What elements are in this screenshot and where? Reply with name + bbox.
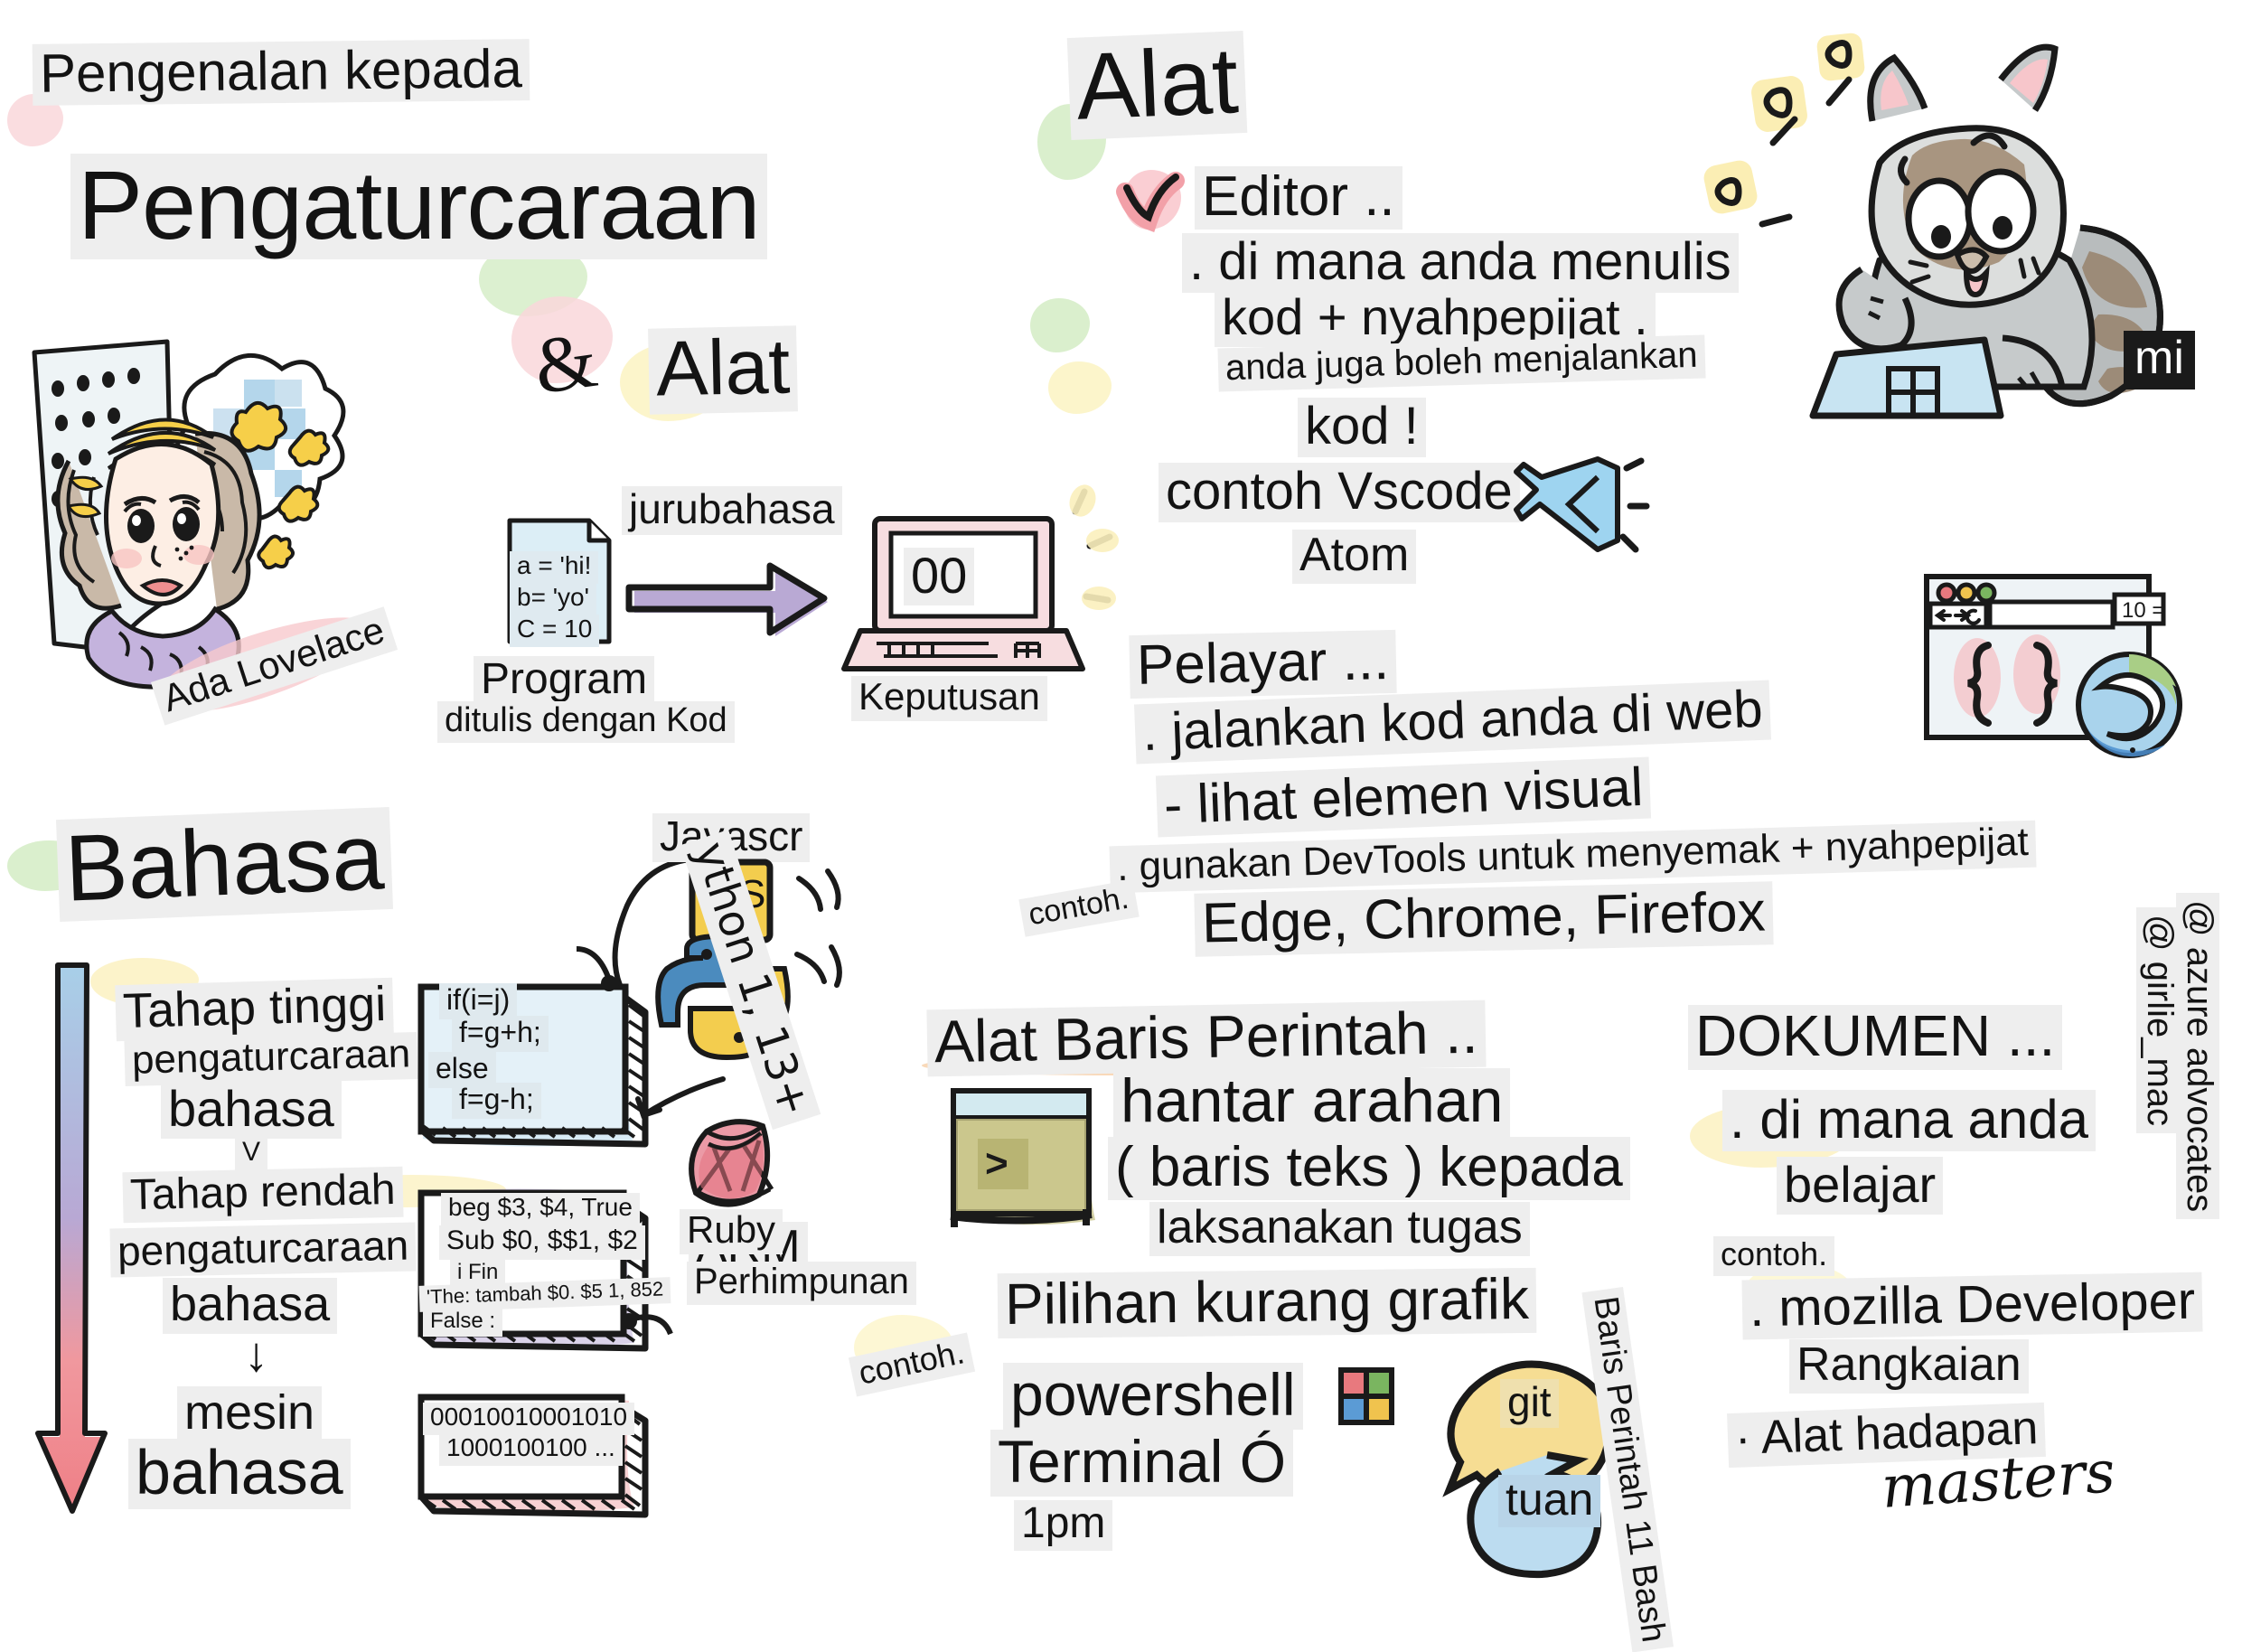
high-level-code-line-0: if(i=j)	[439, 983, 517, 1019]
laptop-screen-text: 00	[904, 548, 974, 605]
ladder-item-3: V	[235, 1137, 267, 1171]
python-sparkle-icon	[792, 868, 891, 1030]
bubble-label-git: git	[1500, 1379, 1559, 1428]
mascot-badge: mi	[2124, 331, 2195, 390]
cli-item-powershell: powershell	[1003, 1363, 1303, 1430]
handle-azure-advocates: @ azure advocates	[2176, 893, 2219, 1219]
dokumen-heading: DOKUMEN ...	[1688, 1005, 2062, 1070]
pelayar-example-label: contoh.	[1018, 879, 1139, 936]
machine-code-line-1: 1000100100 ...	[439, 1433, 623, 1466]
cli-line-2: ( baris teks ) kepada	[1108, 1137, 1630, 1200]
ladder-item-4: Tahap rendah	[122, 1167, 403, 1223]
terminal-window-icon: >	[942, 1075, 1113, 1238]
ladder-item-1: pengaturcaraan	[124, 1032, 417, 1086]
arm-label-line-2: Perhimpunan	[687, 1262, 916, 1305]
abstraction-gradient-arrow-icon	[36, 962, 119, 1522]
svg-text:>: >	[985, 1141, 1008, 1186]
cli-item-1pm: 1pm	[1014, 1500, 1112, 1551]
cli-line-1: hantar arahan	[1113, 1068, 1510, 1137]
ladder-item-7: mesin	[177, 1386, 322, 1442]
sketchnote-canvas: Pengenalan kepada Pengaturcaraan & Alat	[0, 0, 2242, 1581]
pelayar-title: Pelayar ...	[1129, 630, 1397, 699]
browser-window-illustration: 10 =	[1914, 568, 2212, 766]
editor-line-1: . di mana anda menulis	[1182, 233, 1739, 293]
signature-masters: masters	[1872, 1441, 2125, 1524]
ladder-item-6: bahasa	[163, 1278, 337, 1334]
check-mark-icon	[1118, 174, 1181, 231]
ladder-item-2: bahasa	[161, 1081, 342, 1139]
editor-example-vscode: contoh Vscode	[1159, 463, 1520, 522]
dokumen-line-1: . di mana anda	[1722, 1090, 2096, 1151]
ampersand-ornament: &	[522, 317, 610, 415]
interpreter-arrow-icon	[625, 553, 842, 652]
machine-code-line-0: 00010010001010	[423, 1403, 634, 1435]
ruby-gem-icon	[676, 1106, 793, 1224]
raccoon-with-laptop-icon	[1703, 27, 2190, 416]
assembly-code-line-1: Sub $0, $$1, $2	[439, 1225, 645, 1260]
bubble-label-tuan: tuan	[1498, 1475, 1600, 1527]
page-subtitle: Alat	[648, 325, 798, 414]
ladder-item-0: Tahap tinggi	[115, 978, 394, 1042]
program-code-line-1: a = 'hi!	[510, 551, 598, 584]
editor-example-atom: Atom	[1292, 530, 1416, 584]
yellow-blob-2	[1048, 361, 1112, 414]
alat-heading: Alat	[1067, 31, 1248, 140]
green-blob-3	[1030, 298, 1090, 352]
lang-label-ruby: Ruby	[680, 1209, 783, 1254]
pelayar-examples: Edge, Chrome, Firefox	[1194, 881, 1773, 957]
high-level-code-line-1: f=g+h;	[452, 1016, 549, 1052]
cli-heading: Alat Baris Perintah ..	[926, 1000, 1486, 1077]
pelayar-line-2: - lihat elemen visual	[1156, 757, 1651, 838]
assembly-code-line-0: beg $3, $4, True	[441, 1193, 640, 1225]
page-title: Pengaturcaraan	[70, 154, 767, 259]
cli-line-3: laksanakan tugas	[1149, 1202, 1530, 1256]
dokumen-example-label: contoh.	[1713, 1236, 1834, 1276]
editor-title: Editor ..	[1195, 166, 1402, 230]
dokumen-line-3: . mozilla Developer	[1741, 1272, 2202, 1340]
cli-line-4: Pilihan kurang grafik	[998, 1268, 1537, 1339]
dokumen-line-2: belajar	[1777, 1157, 1943, 1215]
program-code-line-3: C = 10	[510, 615, 599, 647]
svg-text:10 =: 10 =	[2122, 598, 2164, 623]
interpreter-label: jurubahasa	[622, 486, 842, 535]
ladder-item-5: pengaturcaraan	[109, 1222, 416, 1277]
dokumen-line-4: Rangkaian	[1789, 1339, 2029, 1394]
handle-girlie-mac: @ girlie_mac	[2136, 907, 2180, 1133]
result-label: Keputusan	[851, 676, 1047, 721]
vscode-logo-icon	[1511, 450, 1637, 558]
windows-logo-icon	[1332, 1363, 1404, 1435]
program-sublabel: ditulis dengan Kod	[437, 701, 735, 743]
bahasa-heading: Bahasa	[56, 807, 393, 922]
assembly-code-line-4: False :	[423, 1309, 502, 1337]
ladder-item-8: bahasa	[128, 1439, 351, 1509]
editor-line-4: kod !	[1298, 398, 1426, 457]
program-label: Program	[474, 656, 654, 707]
program-code-line-2: b= 'yo'	[510, 583, 596, 615]
down-arrow-glyph: ↓	[237, 1328, 276, 1384]
eyebrow-text: Pengenalan kepada	[33, 39, 530, 106]
high-level-code-line-3: f=g-h;	[452, 1083, 541, 1119]
cli-item-terminal: Terminal Ó	[990, 1430, 1293, 1497]
